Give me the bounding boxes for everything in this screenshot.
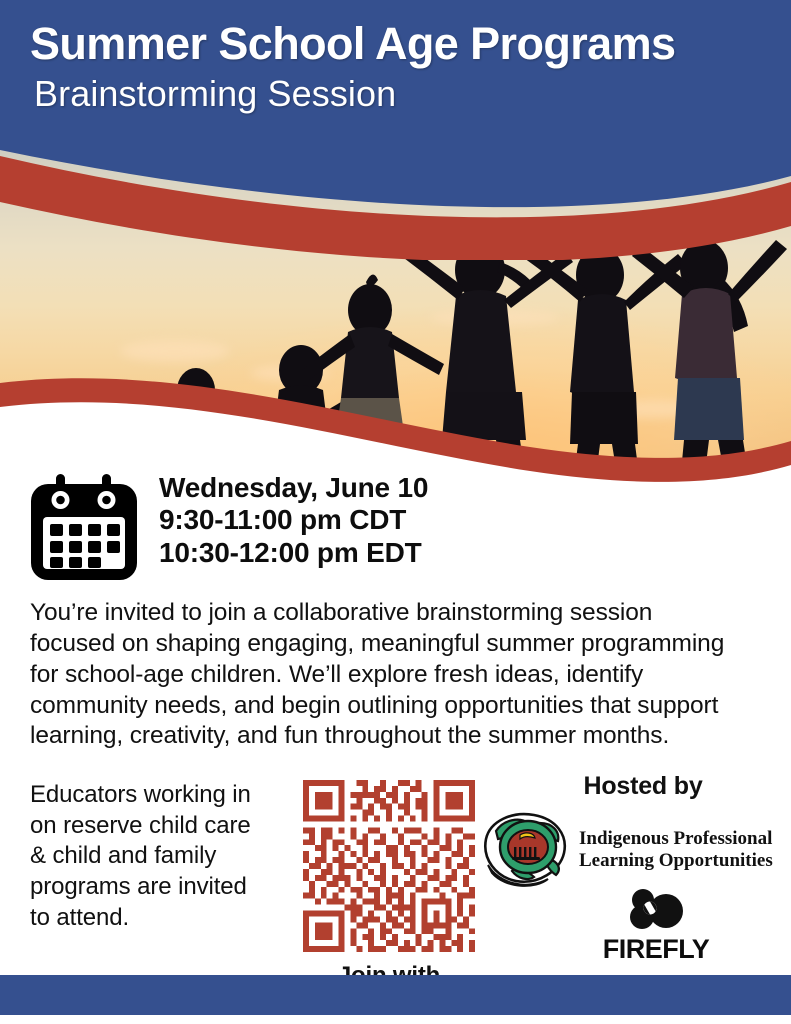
partner-name: FIREFLY (586, 934, 726, 965)
event-time-edt: 10:30-12:00 pm EDT (159, 537, 428, 569)
hosted-by-block: Hosted by (478, 772, 778, 965)
event-date: Wednesday, June 10 (159, 472, 428, 504)
eligibility-text: Educators working in on reserve child ca… (30, 780, 265, 934)
invitation-paragraph: You’re invited to join a collaborative b… (30, 598, 742, 752)
partner-row: FIREFLY (586, 887, 726, 965)
event-datetime-lines: Wednesday, June 10 9:30-11:00 pm CDT 10:… (159, 472, 428, 569)
calendar-icon (28, 474, 140, 582)
hosted-by-label: Hosted by (508, 772, 778, 801)
firefly-circles-logo-icon (625, 887, 687, 931)
page-title: Summer School Age Programs (30, 20, 770, 68)
qr-code-icon[interactable] (303, 780, 475, 952)
header-text-group: Summer School Age Programs Brainstorming… (30, 20, 770, 114)
page-subtitle: Brainstorming Session (34, 74, 770, 114)
poster-canvas: Summer School Age Programs Brainstorming… (0, 0, 791, 1024)
event-datetime-block: Wednesday, June 10 9:30-11:00 pm CDT 10:… (28, 470, 428, 582)
organizer-name-line-1: Indigenous Professional (579, 828, 773, 850)
organizer-name-line-2: Learning Opportunities (579, 850, 773, 872)
organizer-name: Indigenous Professional Learning Opportu… (579, 828, 773, 873)
event-time-cdt: 9:30-11:00 pm CDT (159, 504, 428, 536)
footer-bar (0, 975, 791, 1015)
lower-content-row: Educators working in on reserve child ca… (0, 772, 791, 962)
turtle-medallion-logo-icon (478, 809, 573, 891)
organizer-row: Indigenous Professional Learning Opportu… (478, 809, 778, 891)
